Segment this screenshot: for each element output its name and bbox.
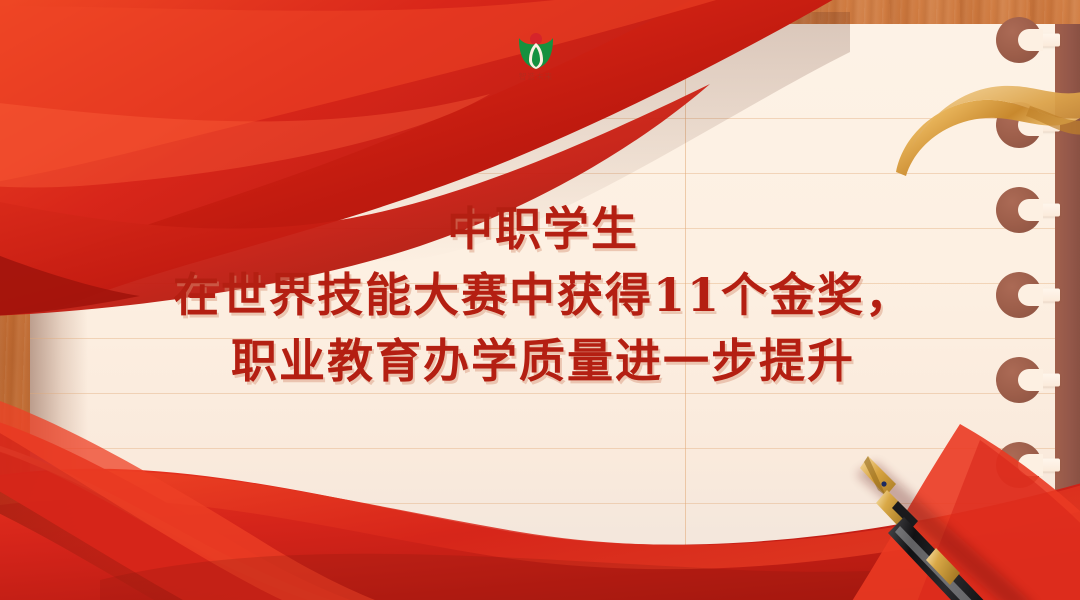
page-title: 中职学生 在世界技能大赛中获得11个金奖， 职业教育办学质量进一步提升 bbox=[30, 196, 1056, 394]
spiral-ring bbox=[996, 17, 1042, 63]
spiral-ring-notch bbox=[1018, 29, 1043, 51]
logo-caption: 智造未来 bbox=[519, 72, 553, 81]
fountain-pen bbox=[840, 440, 1080, 600]
headline-line-3: 职业教育办学质量进一步提升 bbox=[30, 328, 1056, 394]
headline-line-1: 中职学生 bbox=[30, 196, 1056, 262]
green-sprout-logo-icon bbox=[513, 30, 559, 70]
gold-ribbon-curl bbox=[880, 60, 1080, 190]
poster-canvas: 智造未来 中职学生 在世界技能大赛中获得11个金奖， 职业教育办学质量进一步提升 bbox=[0, 0, 1080, 600]
headline-line-2: 在世界技能大赛中获得11个金奖， bbox=[30, 262, 1056, 328]
organization-logo: 智造未来 bbox=[496, 30, 576, 88]
